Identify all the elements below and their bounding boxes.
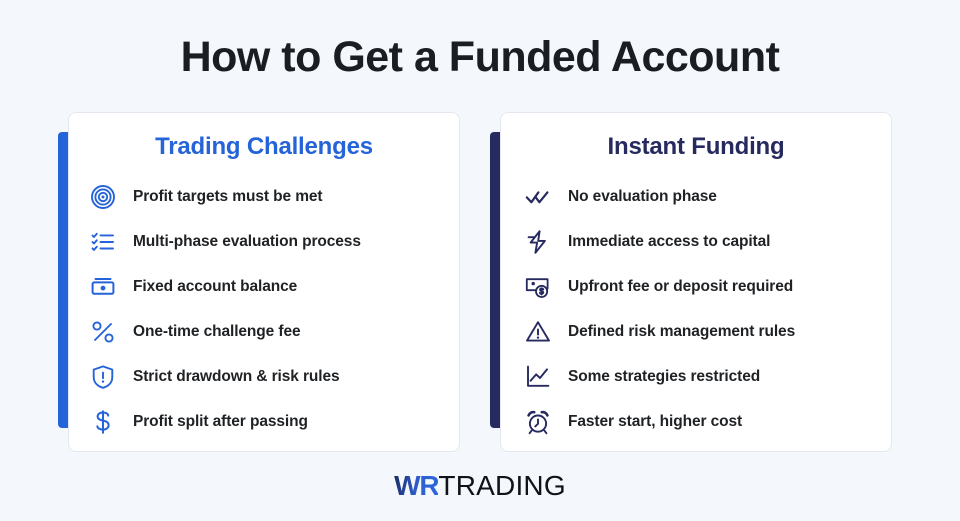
logo-word-trading: TRADING (438, 470, 565, 501)
card-title-instant-funding: Instant Funding (500, 130, 892, 164)
list-item: Profit targets must be met (68, 174, 460, 219)
card-instant-funding: Instant Funding No evaluation phase (500, 112, 892, 452)
list-item: Strict drawdown & risk rules (68, 354, 460, 399)
checklist-icon (89, 228, 117, 256)
list-item-label: Upfront fee or deposit required (568, 277, 793, 297)
list-item-label: Fixed account balance (133, 277, 297, 297)
line-chart-icon (524, 363, 552, 391)
list-item: No evaluation phase (500, 174, 892, 219)
accent-bar-right (490, 132, 500, 428)
list-item: Faster start, higher cost (500, 399, 892, 444)
list-item: Some strategies restricted (500, 354, 892, 399)
list-item-label: Multi-phase evaluation process (133, 232, 361, 252)
warning-triangle-icon (524, 318, 552, 346)
list-item-label: Profit split after passing (133, 412, 308, 432)
list-item: Fixed account balance (68, 264, 460, 309)
alarm-clock-icon (524, 408, 552, 436)
list-item: Defined risk management rules (500, 309, 892, 354)
list-item-label: Immediate access to capital (568, 232, 770, 252)
list-item: Multi-phase evaluation process (68, 219, 460, 264)
list-item-label: Faster start, higher cost (568, 412, 742, 432)
list-item-label: No evaluation phase (568, 187, 717, 207)
double-check-icon (524, 183, 552, 211)
shield-alert-icon (89, 363, 117, 391)
banknote-icon (89, 273, 117, 301)
accent-bar-left (58, 132, 68, 428)
lightning-bolt-icon (524, 228, 552, 256)
list-item: Immediate access to capital (500, 219, 892, 264)
card-trading-challenges: Trading Challenges Profit targets must b… (68, 112, 460, 452)
list-item-label: Profit targets must be met (133, 187, 322, 207)
percent-icon (89, 318, 117, 346)
list-item: Upfront fee or deposit required (500, 264, 892, 309)
list-trading-challenges: Profit targets must be met Multi- (68, 174, 460, 444)
page-title: How to Get a Funded Account (0, 27, 960, 87)
logo-mark-wr: WR (394, 470, 438, 501)
list-item: One-time challenge fee (68, 309, 460, 354)
list-instant-funding: No evaluation phase Immediate access to … (500, 174, 892, 444)
list-item-label: Some strategies restricted (568, 367, 760, 387)
list-item: Profit split after passing (68, 399, 460, 444)
list-item-label: One-time challenge fee (133, 322, 301, 342)
list-item-label: Defined risk management rules (568, 322, 795, 342)
list-item-label: Strict drawdown & risk rules (133, 367, 340, 387)
brand-logo: WRTRADING (0, 470, 960, 507)
comparison-cards: Trading Challenges Profit targets must b… (0, 112, 960, 452)
dollar-sign-icon (89, 408, 117, 436)
infographic-page: How to Get a Funded Account Trading Chal… (0, 0, 960, 521)
target-icon (89, 183, 117, 211)
cash-coin-icon (524, 273, 552, 301)
card-title-trading-challenges: Trading Challenges (68, 130, 460, 164)
